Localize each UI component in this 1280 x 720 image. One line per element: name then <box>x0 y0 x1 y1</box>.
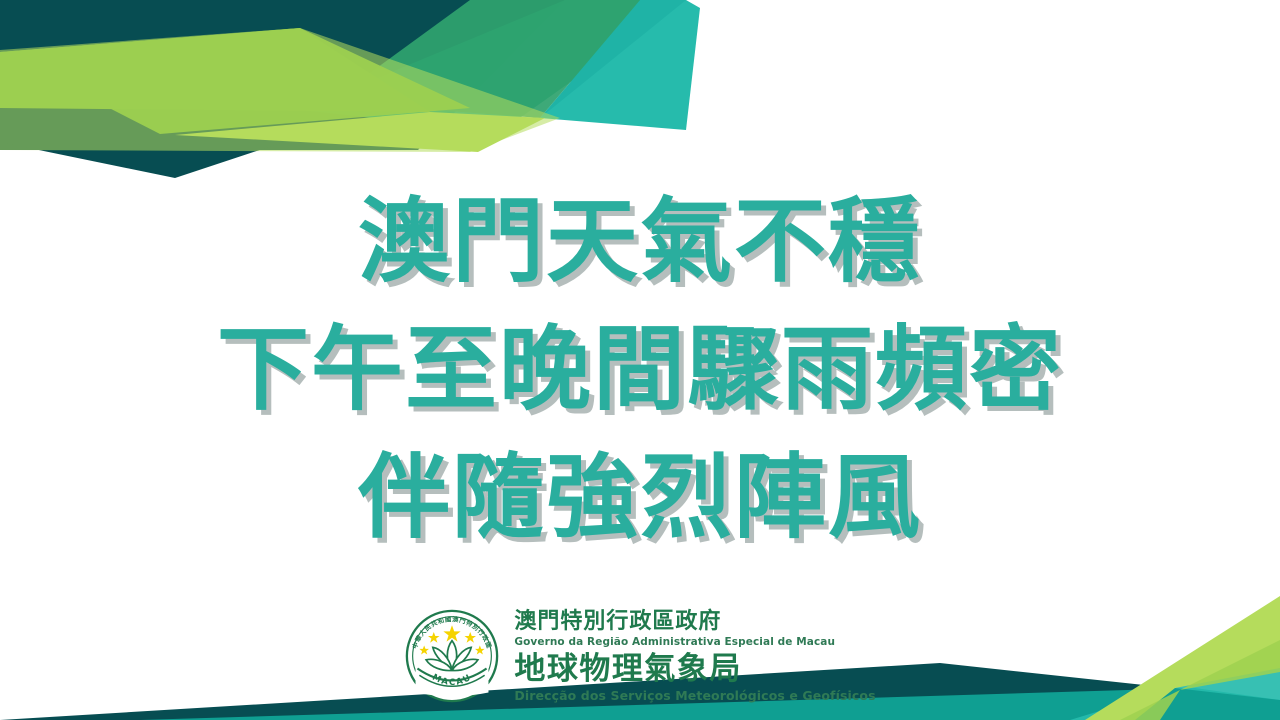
deco-green-band-2 <box>0 28 470 134</box>
logo-text-block: 澳門特別行政區政府 Governo da Região Administrati… <box>514 609 875 704</box>
deco-teal-right-triangle <box>540 0 690 120</box>
headline-line-1: 澳門天氣不穩 <box>0 178 1280 306</box>
bureau-name-cn: 地球物理氣象局 <box>514 651 875 687</box>
bureau-name-pt: Direcção dos Serviços Meteorológicos e G… <box>514 688 875 704</box>
deco-teal-wedge <box>540 0 700 130</box>
weather-announcement-slide: 澳門天氣不穩 下午至晚間驟雨頻密 伴隨強烈陣風 <box>0 0 1280 720</box>
logo-lockup: 中華人民共和國澳門特別行政區 MACAU 澳門特別行政區政府 Governo d… <box>0 608 1280 704</box>
deco-lime-triangle <box>175 112 545 152</box>
deco-lime-sheet <box>0 28 560 152</box>
government-name-cn: 澳門特別行政區政府 <box>514 609 875 635</box>
deco-dark-teal-lower-left <box>0 78 320 178</box>
deco-sea-green-band <box>300 0 686 132</box>
macau-sar-emblem-icon: 中華人民共和國澳門特別行政區 MACAU <box>404 608 500 704</box>
deco-green-band <box>0 28 430 112</box>
headline-line-3: 伴隨強烈陣風 <box>0 434 1280 562</box>
government-name-pt: Governo da Região Administrativa Especia… <box>514 635 875 649</box>
headline-block: 澳門天氣不穩 下午至晚間驟雨頻密 伴隨強烈陣風 <box>0 178 1280 562</box>
deco-mid-green-triangle <box>330 0 640 118</box>
headline-line-2: 下午至晚間驟雨頻密 <box>0 306 1280 434</box>
deco-dark-teal-top <box>0 0 565 150</box>
